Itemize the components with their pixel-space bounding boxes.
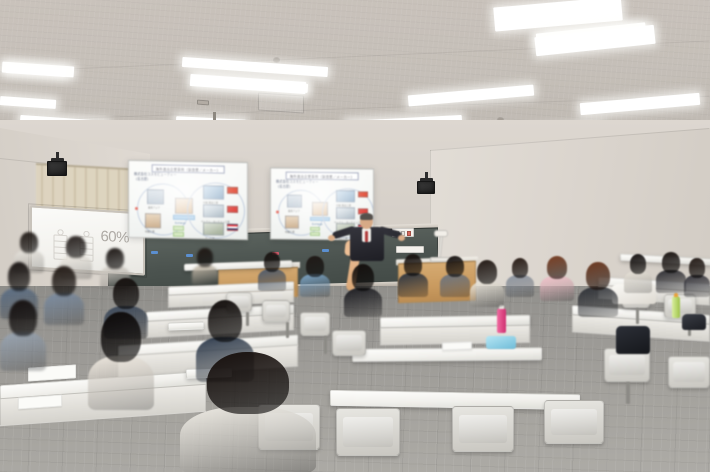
- audience-member: [684, 258, 710, 296]
- audience-member-torso: [506, 275, 534, 296]
- slide-caption: 中国工場: [145, 229, 155, 233]
- audience-member-torso: [578, 287, 618, 317]
- audience-member: [0, 300, 46, 370]
- audience-member-head: [208, 300, 243, 342]
- audience-member: [300, 256, 330, 296]
- wall-speaker-left: [47, 152, 67, 176]
- audience-member-torso: [540, 276, 574, 301]
- audience-member-head: [512, 258, 529, 278]
- green-label-box: [310, 227, 320, 231]
- audience-member: [180, 352, 316, 472]
- audience-member-torso: [398, 273, 428, 297]
- audience-member-head: [106, 248, 124, 269]
- audience-member-torso: [192, 265, 218, 285]
- audience-member: [578, 262, 618, 316]
- audience-member: [656, 252, 686, 292]
- audience-member-head: [113, 278, 139, 309]
- green-bottle: [672, 296, 680, 318]
- magnet: [322, 249, 329, 252]
- audience-member-torso: [656, 270, 686, 292]
- pink-water-bottle: [497, 308, 506, 333]
- audience-member-head: [404, 254, 422, 276]
- slide-subtitle-line2: （名古屋）: [134, 177, 150, 182]
- audience-member-head: [630, 254, 647, 274]
- audience-member-head: [8, 262, 31, 291]
- slide-photo: [145, 213, 161, 228]
- audience-member: [506, 258, 534, 296]
- audience-member: [440, 256, 470, 296]
- slide-caption: 東南アジア: [148, 205, 160, 209]
- audience-member-torso: [44, 293, 84, 325]
- green-label-box: [173, 232, 184, 237]
- slide-process-label: Exchange: [312, 223, 323, 226]
- audience-member-head: [264, 252, 281, 272]
- audience-member-torso: [440, 274, 470, 296]
- left-projection-screen: 海外進出企業事例（製造業／メーカー） 株式会社コスモビューティー （名古屋） 東…: [128, 160, 248, 240]
- slide-photo: [287, 195, 302, 208]
- slide-photo: [203, 185, 224, 199]
- audience-member: [540, 256, 574, 300]
- audience-member-head: [586, 262, 610, 290]
- audience-member-head: [547, 256, 567, 279]
- audience-member: [470, 260, 504, 306]
- audience-member: [192, 248, 218, 284]
- chair: [300, 312, 330, 336]
- audience-member: [258, 252, 286, 290]
- flag-vietnam: [227, 206, 238, 213]
- chair-leg: [636, 308, 639, 324]
- slide-caption: 中国工場: [285, 230, 295, 234]
- slide-photo: [336, 190, 355, 202]
- chair: [332, 330, 366, 356]
- audience-member-torso: [0, 332, 46, 371]
- presenter-left-hand: [328, 235, 335, 241]
- diagram-marker: [276, 211, 279, 214]
- lecture-hall-photo: 60% 海外進出企業事例（製造業／メーカー） 株式会社コスモビューティー （名古…: [0, 0, 710, 472]
- chair: [668, 356, 710, 388]
- slide-content-left: 海外進出企業事例（製造業／メーカー） 株式会社コスモビューティー （名古屋） 東…: [129, 161, 247, 239]
- flag-china: [227, 187, 238, 194]
- black-backpack: [616, 326, 650, 354]
- chair-leg: [324, 336, 327, 354]
- chair: [452, 406, 514, 452]
- audience-member-torso: [258, 269, 286, 290]
- audience-member: [398, 254, 428, 296]
- audience-member-head: [207, 352, 289, 414]
- flag-china: [358, 191, 368, 197]
- diagram-marker: [135, 207, 138, 210]
- slide-process-label: Exchange: [175, 222, 186, 225]
- presenter-right-hand: [398, 235, 405, 241]
- chair: [336, 408, 400, 456]
- presenter-hair: [360, 213, 373, 220]
- audience-member-torso: [684, 275, 710, 296]
- audience-member-torso: [344, 288, 382, 317]
- audience-member-head: [446, 256, 464, 277]
- black-pouch: [682, 314, 706, 330]
- audience-member-head: [477, 260, 497, 284]
- magnet: [151, 251, 158, 254]
- audience-member-head: [197, 248, 213, 267]
- wall-speaker-right: [417, 172, 435, 194]
- presenter-tie: [365, 231, 368, 242]
- slide-photo: [147, 189, 164, 204]
- audience-member-torso: [88, 356, 154, 410]
- slide-subtitle-line2: （名古屋）: [276, 185, 292, 190]
- audience-member-head: [689, 258, 705, 278]
- whiteboard-annotation: 60%: [100, 228, 129, 247]
- audience-member-head: [66, 236, 85, 258]
- ceiling-vent: [197, 100, 209, 106]
- green-label-box: [310, 232, 320, 236]
- sprinkler-head: [274, 58, 279, 62]
- blue-pouch: [486, 336, 516, 349]
- flag-thailand: [227, 224, 238, 231]
- audience-member: [624, 254, 652, 292]
- audience-member-head: [352, 264, 375, 291]
- audience-member-torso: [470, 281, 504, 307]
- audience-member-head: [662, 252, 680, 273]
- audience-member-torso: [300, 274, 330, 296]
- audience-member-head: [9, 300, 37, 336]
- chair: [262, 300, 290, 322]
- slide-photo: [203, 222, 224, 235]
- audience-member-torso: [180, 407, 316, 472]
- audience-member: [88, 312, 154, 408]
- slide-photo: [203, 204, 224, 217]
- audience-member-head: [20, 232, 38, 253]
- audience-member-torso: [624, 271, 652, 292]
- green-label-box: [173, 226, 184, 231]
- chair-leg: [286, 322, 289, 338]
- chair-leg: [626, 382, 630, 404]
- slide-photo: [285, 216, 299, 229]
- audience-member-head: [101, 312, 141, 362]
- ceiling-access-panel: [258, 92, 304, 113]
- slide-caption: 東南アジア: [288, 209, 300, 213]
- audience-member-head: [306, 256, 324, 277]
- chair: [544, 400, 604, 444]
- audience-member: [344, 264, 382, 316]
- audience-member: [44, 266, 84, 324]
- audience-member-head: [52, 266, 76, 296]
- handout-paper: [442, 341, 472, 350]
